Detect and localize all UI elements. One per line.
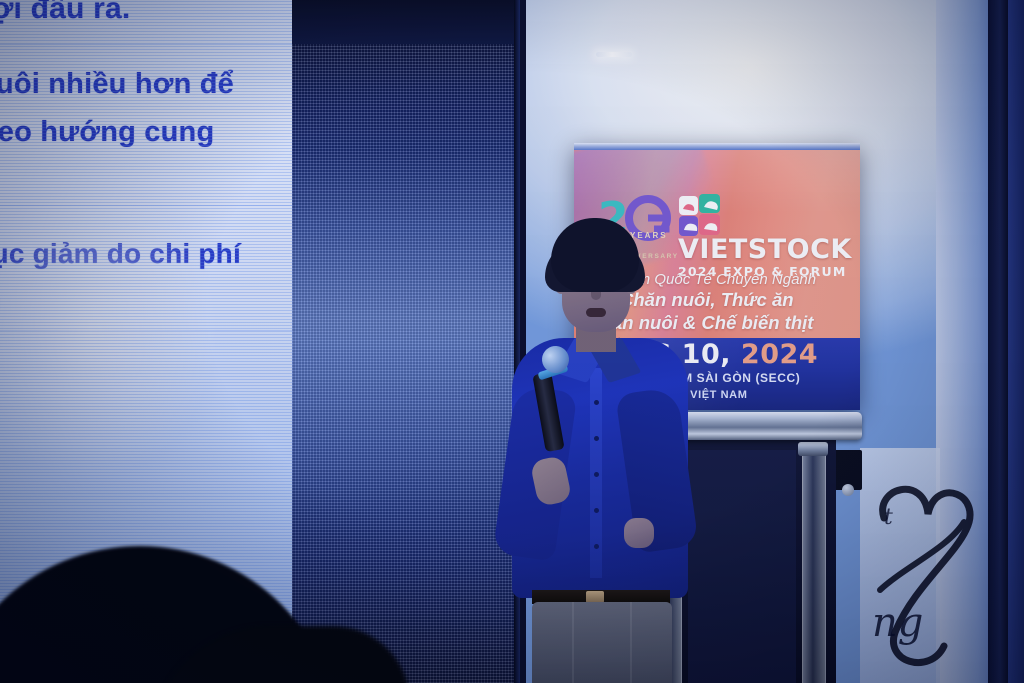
event-date-year: 2024 xyxy=(741,339,818,370)
glass-text-top: t xyxy=(884,505,893,530)
speaker-figure xyxy=(498,218,698,683)
textured-wall-panel xyxy=(292,0,520,683)
wall-sheen xyxy=(292,150,520,530)
slide-line-4: tục giảm do chi phí xyxy=(0,238,292,270)
right-dark-pillar xyxy=(988,0,1008,683)
glass-text-bottom: ng xyxy=(872,600,923,646)
speaker-trousers xyxy=(532,602,672,683)
slide-line-1: ợi đầu ra. xyxy=(0,0,292,26)
right-glass-pillar xyxy=(936,0,988,683)
conference-photo-scene: t ng 2 YEARS ANNIVERSARY xyxy=(0,0,1024,683)
slide-line-3: theo hướng cung xyxy=(0,116,292,149)
right-far-wall xyxy=(1008,0,1024,683)
speaker-mouth xyxy=(586,308,606,317)
speaker-hair xyxy=(551,218,639,292)
podium-cap-right xyxy=(798,442,828,456)
ceiling-spotlight-left xyxy=(596,52,632,57)
vietstock-logo: VIETSTOCK 2024 EXPO & FORUM xyxy=(678,193,852,279)
speaker-hand-right xyxy=(624,518,654,548)
podium-leg-right xyxy=(802,450,826,683)
slide-line-2: nuôi nhiều hơn để xyxy=(0,68,292,101)
podium-knob xyxy=(842,484,854,496)
wall-top-strip xyxy=(292,0,520,44)
podium-front-panel xyxy=(688,450,796,683)
decor-glass-panel xyxy=(860,448,940,683)
slide-line-5: n xyxy=(0,284,292,316)
banner-metal-rail xyxy=(574,143,860,150)
